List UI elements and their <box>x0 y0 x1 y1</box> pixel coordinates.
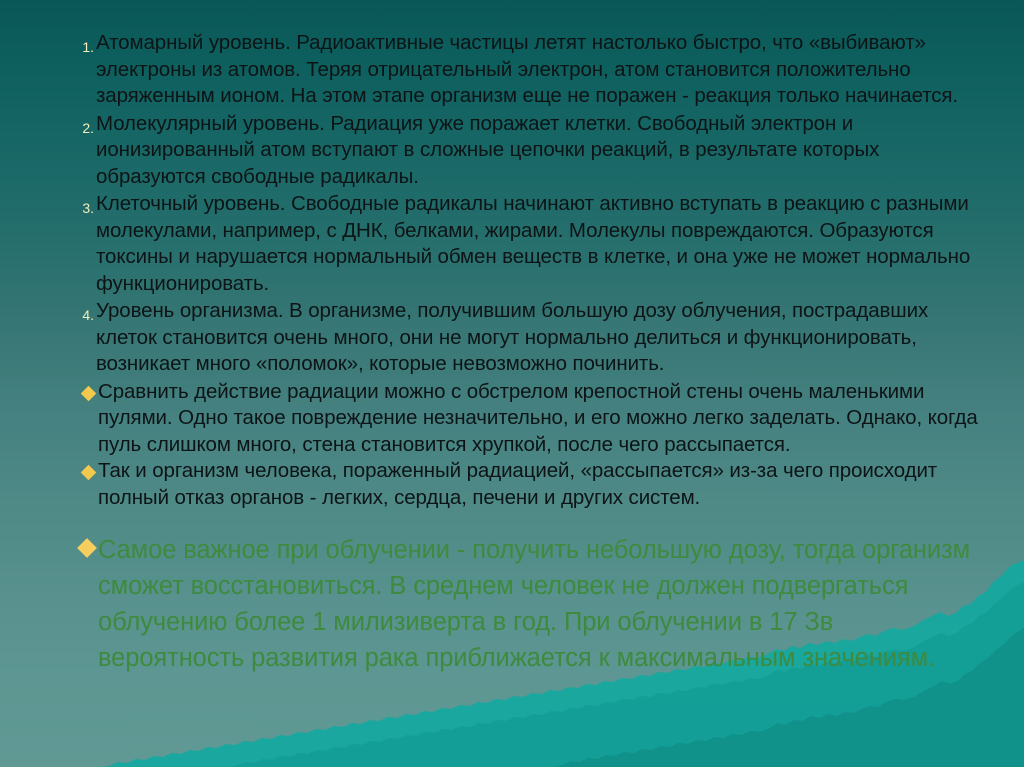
list-item-emphasized: Самое важное при облучении - получить не… <box>56 532 1016 676</box>
list-item: 4. Уровень организма. В организме, получ… <box>56 298 1016 378</box>
diamond-bullet-icon-2 <box>56 458 98 478</box>
list-item-text-6: Так и организм человека, пораженный ради… <box>98 458 1016 511</box>
list-item-text-2: Молекулярный уровень. Радиация уже пораж… <box>96 111 1016 191</box>
list-item: Сравнить действие радиации можно с обстр… <box>56 379 1016 459</box>
presentation-slide: 1. Атомарный уровень. Радиоактивные част… <box>0 0 1024 767</box>
list-item-text-1: Атомарный уровень. Радиоактивные частицы… <box>96 30 1016 110</box>
list-item: 3. Клеточный уровень. Свободные радикалы… <box>56 191 1016 297</box>
list-marker-number-3: 3. <box>56 191 96 221</box>
emphasized-conclusion-text: Самое важное при облучении - получить не… <box>98 532 1016 676</box>
list-item: Так и организм человека, пораженный ради… <box>56 458 1016 511</box>
numbered-bullet-list: 1. Атомарный уровень. Радиоактивные част… <box>56 30 1016 676</box>
list-marker-number-4: 4. <box>56 298 96 328</box>
list-item: 2. Молекулярный уровень. Радиация уже по… <box>56 111 1016 191</box>
list-item: 1. Атомарный уровень. Радиоактивные част… <box>56 30 1016 110</box>
list-item-text-5: Сравнить действие радиации можно с обстр… <box>98 379 1016 459</box>
slide-content: 1. Атомарный уровень. Радиоактивные част… <box>0 0 1024 767</box>
bullet-list-container: 1. Атомарный уровень. Радиоактивные част… <box>56 30 1016 676</box>
list-marker-number-1: 1. <box>56 30 96 60</box>
list-item-text-3: Клеточный уровень. Свободные радикалы на… <box>96 191 1016 297</box>
diamond-bullet-icon-1 <box>56 379 98 399</box>
list-item-text-4: Уровень организма. В организме, получивш… <box>96 298 1016 378</box>
diamond-bullet-icon-3 <box>56 532 98 555</box>
list-marker-number-2: 2. <box>56 111 96 141</box>
